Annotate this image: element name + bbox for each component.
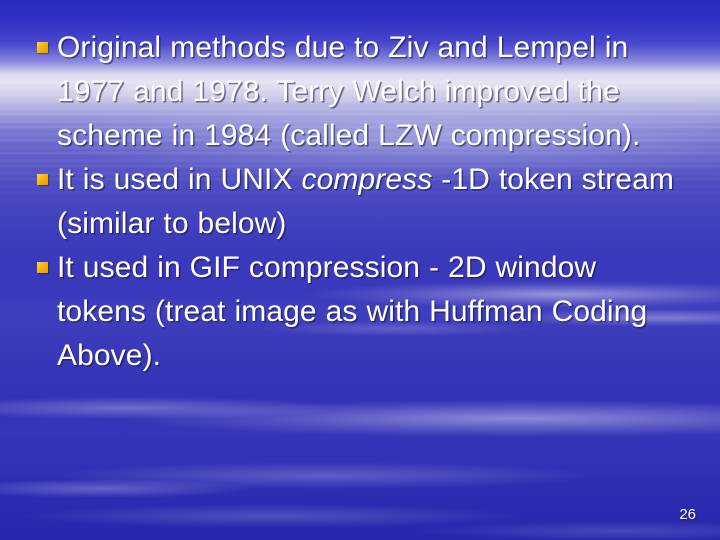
bullet-text-unix-compress: It is used in UNIX compress -1D token st… [57,158,693,246]
bullet-segment-text: Original methods due to Ziv and Lempel i… [57,31,640,152]
bullet-item-unix-compress: It is used in UNIX compress -1D token st… [33,158,693,246]
bullet-text-lz-origins: Original methods due to Ziv and Lempel i… [57,26,693,158]
bullet-segment-text: It used in GIF compression - 2D window t… [57,251,647,372]
bullet-item-gif-compression: It used in GIF compression - 2D window t… [33,246,693,378]
background-cloud-wisp-bottom [0,480,720,540]
square-bullet-icon [37,42,48,53]
bullet-segment-text: It is used in UNIX [57,163,302,196]
presentation-slide: Original methods due to Ziv and Lempel i… [0,0,720,540]
square-bullet-icon [37,174,48,185]
slide-page-number: 26 [679,507,696,522]
square-bullet-icon [37,262,48,273]
background-cloud-wisp-lower [0,382,720,512]
bullet-text-gif-compression: It used in GIF compression - 2D window t… [57,246,693,378]
slide-body-text-placeholder: Original methods due to Ziv and Lempel i… [33,26,693,378]
bullet-segment-italic: compress [302,163,433,196]
bullet-item-lz-origins: Original methods due to Ziv and Lempel i… [33,26,693,158]
